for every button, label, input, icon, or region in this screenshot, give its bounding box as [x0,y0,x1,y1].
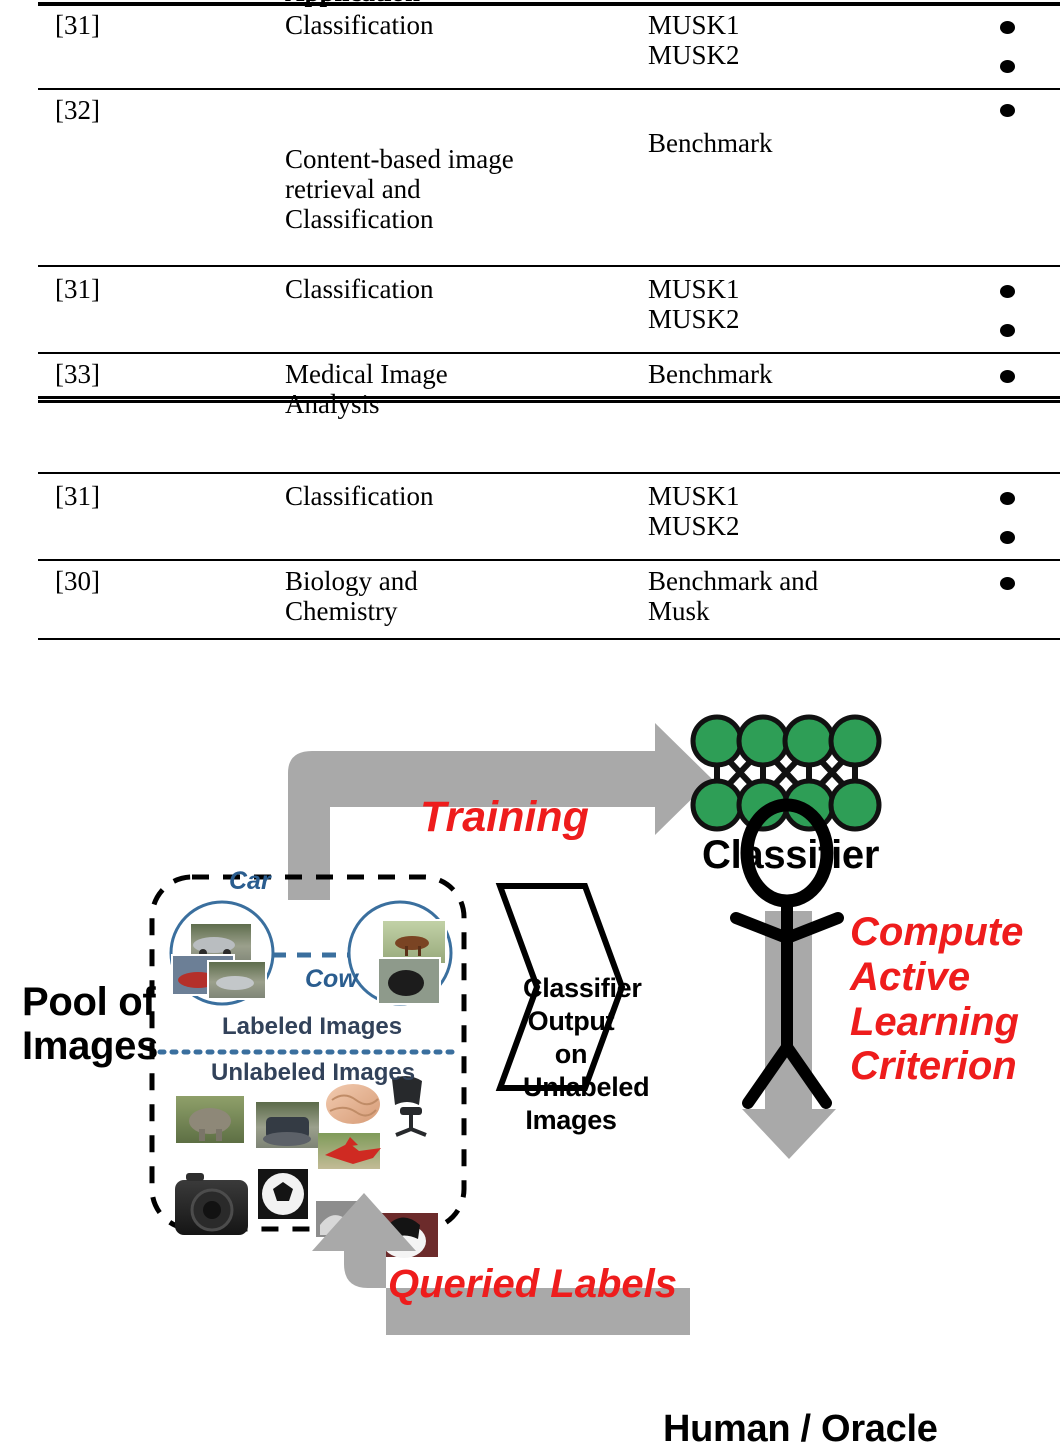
table-cell-dataset: Benchmark [648,359,948,389]
labeled-images-label: Labeled Images [222,1013,402,1041]
cow-label: Cow [305,965,358,994]
table-cell-app: Content-based image retrieval and Classi… [285,144,615,234]
car-thumbnails-icon [172,923,266,999]
pool-of-images-label: Pool of Images [22,980,158,1068]
table-cell-ref: [31] [55,274,100,304]
table-cell-ref: [31] [55,10,100,40]
table-cell-ref: [33] [55,359,100,389]
bullet-icon [1000,60,1015,73]
bullet-icon [1000,104,1015,117]
bullet-icon [1000,531,1015,544]
bullet-icon [1000,370,1015,383]
table-cell-dataset: MUSK1 MUSK2 [648,481,948,541]
table-cell-ref: [32] [55,95,100,125]
table-rule-3 [38,352,1060,354]
table-cell-dataset: Benchmark [648,128,948,158]
table-cell-app: Medical Image Analysis [285,359,615,419]
cow-thumbnails-icon [378,920,446,1004]
table-rule-6 [38,559,1060,561]
bullet-icon [1000,285,1015,298]
human-oracle-label: Human / Oracle [663,1408,938,1451]
bullet-icon [1000,21,1015,34]
bullet-icon [1000,577,1015,590]
table-cell-app: Biology and Chemistry [285,566,615,626]
active-learning-cycle-diagram: Pool of Images Training Classifier Compu… [0,655,1061,1454]
table-cell-dataset: MUSK1 MUSK2 [648,10,948,70]
unlabeled-images-label: Unlabeled Images [211,1059,415,1087]
table-cell-app: Classification [285,10,615,40]
table-rule-2 [38,265,1060,267]
table-rule-5 [38,472,1060,474]
table-rule-bottom [38,638,1060,640]
compute-active-learning-criterion-label: Compute Active Learning Criterion [850,910,1023,1089]
bullet-icon [1000,492,1015,505]
classifier-output-label: Classifier Output on Unlabeled Images [523,972,619,1137]
table-cell-app: Classification [285,274,615,304]
bullet-icon [1000,324,1015,337]
table-cell-app: Classification [285,481,615,511]
comparison-table: Application [31] Classification MUSK1 MU… [0,0,1061,650]
training-label: Training [420,793,589,841]
table-cell-dataset: Benchmark and Musk [648,566,948,626]
table-cell-dataset: MUSK1 MUSK2 [648,274,948,334]
table-rule-1 [38,88,1060,90]
car-label: Car [229,867,271,896]
table-rule-top [38,2,1060,6]
queried-labels-label: Queried Labels [388,1262,677,1307]
table-cell-ref: [31] [55,481,100,511]
classifier-label: Classifier [702,833,879,878]
table-cell-ref: [30] [55,566,100,596]
